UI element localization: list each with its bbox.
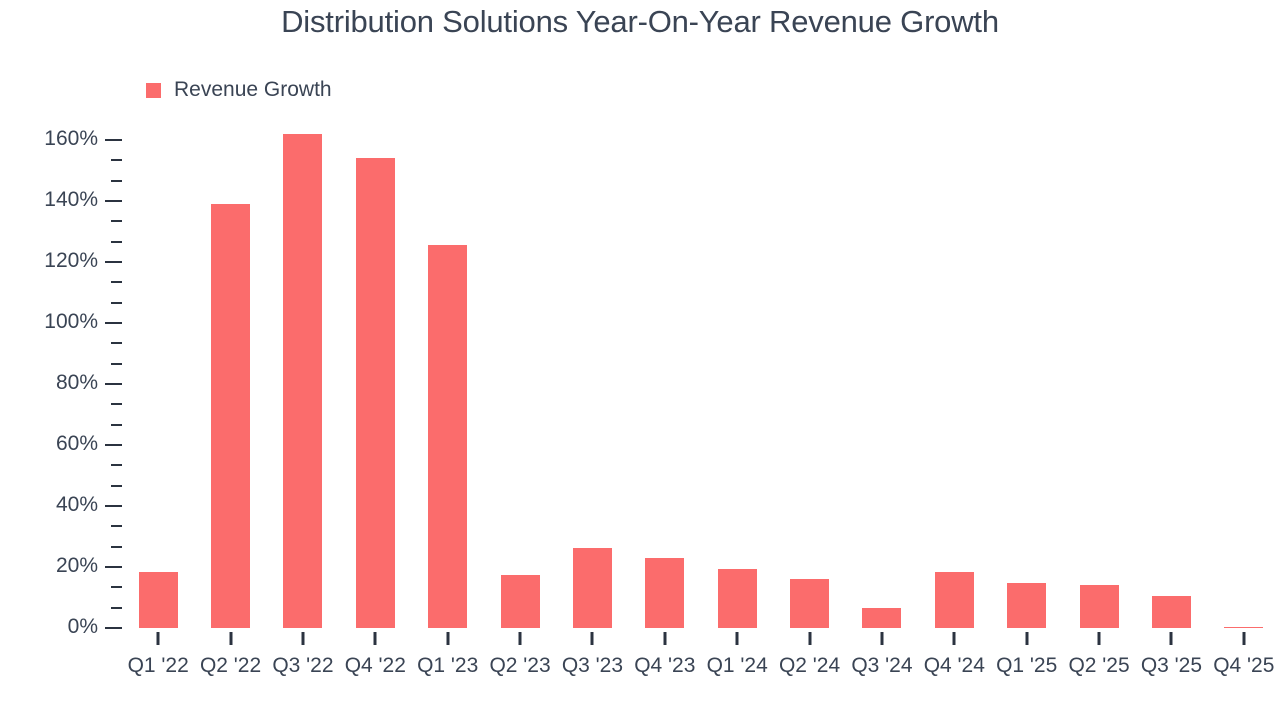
bar-category-slot: Q1 '24 — [701, 0, 773, 720]
x-axis-tick — [229, 632, 232, 645]
bar-holder — [139, 0, 178, 720]
bar[interactable] — [428, 245, 467, 628]
y-axis-minor-tick — [111, 159, 122, 161]
y-axis-major-tick — [105, 444, 122, 446]
x-axis-label: Q4 '22 — [345, 654, 406, 678]
bar[interactable] — [862, 608, 901, 628]
x-axis-tick — [953, 632, 956, 645]
x-axis-label: Q3 '25 — [1141, 654, 1202, 678]
bar-category-slot: Q1 '25 — [991, 0, 1063, 720]
y-axis-label: 160% — [44, 127, 98, 151]
bar-holder — [501, 0, 540, 720]
bar[interactable] — [1224, 627, 1263, 629]
x-axis-tick — [591, 632, 594, 645]
x-axis-label: Q2 '24 — [779, 654, 840, 678]
x-axis-tick — [663, 632, 666, 645]
y-axis-minor-tick — [111, 525, 122, 527]
bar-category-slot: Q3 '23 — [556, 0, 628, 720]
bar-category-slot: Q1 '22 — [122, 0, 194, 720]
bar-holder — [862, 0, 901, 720]
y-axis-major-tick — [105, 200, 122, 202]
bar[interactable] — [935, 572, 974, 628]
bar-category-slot: Q4 '22 — [339, 0, 411, 720]
bar[interactable] — [645, 558, 684, 628]
bar-category-slot: Q2 '24 — [773, 0, 845, 720]
bar-holder — [1224, 0, 1263, 720]
x-axis-label: Q2 '23 — [489, 654, 550, 678]
x-axis-label: Q4 '25 — [1213, 654, 1274, 678]
bar-category-slot: Q4 '24 — [918, 0, 990, 720]
x-axis-label: Q4 '24 — [924, 654, 985, 678]
bar[interactable] — [283, 134, 322, 628]
y-axis-label: 60% — [56, 432, 98, 456]
y-axis-label: 100% — [44, 310, 98, 334]
x-axis-label: Q1 '23 — [417, 654, 478, 678]
y-axis: 0%20%40%60%80%100%120%140%160% — [0, 0, 122, 720]
x-axis-tick — [157, 632, 160, 645]
bar-holder — [211, 0, 250, 720]
bar-category-slot: Q2 '22 — [194, 0, 266, 720]
bar[interactable] — [790, 579, 829, 628]
bar[interactable] — [1080, 585, 1119, 628]
x-axis-label: Q3 '24 — [851, 654, 912, 678]
bar-category-slot: Q3 '25 — [1135, 0, 1207, 720]
bar-holder — [573, 0, 612, 720]
bar-holder — [790, 0, 829, 720]
bar-series-revenue-growth: Q1 '22Q2 '22Q3 '22Q4 '22Q1 '23Q2 '23Q3 '… — [122, 0, 1280, 720]
bar[interactable] — [139, 572, 178, 628]
y-axis-minor-tick — [111, 586, 122, 588]
x-axis-label: Q3 '22 — [272, 654, 333, 678]
x-axis-tick — [736, 632, 739, 645]
bar-holder — [356, 0, 395, 720]
bar-holder — [1152, 0, 1191, 720]
x-axis-tick — [1025, 632, 1028, 645]
bar-holder — [645, 0, 684, 720]
bar-holder — [718, 0, 757, 720]
x-axis-tick — [880, 632, 883, 645]
y-axis-major-tick — [105, 627, 122, 629]
bar-category-slot: Q2 '25 — [1063, 0, 1135, 720]
y-axis-minor-tick — [111, 363, 122, 365]
bar-category-slot: Q4 '23 — [629, 0, 701, 720]
bar-chart-plot-area: 0%20%40%60%80%100%120%140%160% Q1 '22Q2 … — [0, 0, 1280, 720]
y-axis-major-tick — [105, 139, 122, 141]
y-axis-minor-tick — [111, 220, 122, 222]
bar[interactable] — [501, 575, 540, 628]
bar-holder — [1080, 0, 1119, 720]
x-axis-label: Q2 '25 — [1068, 654, 1129, 678]
x-axis-label: Q4 '23 — [634, 654, 695, 678]
x-axis-tick — [808, 632, 811, 645]
y-axis-label: 140% — [44, 188, 98, 212]
x-axis-label: Q2 '22 — [200, 654, 261, 678]
bar-holder — [428, 0, 467, 720]
bar-category-slot: Q3 '24 — [846, 0, 918, 720]
y-axis-label: 80% — [56, 371, 98, 395]
bar[interactable] — [1007, 583, 1046, 628]
bar[interactable] — [1152, 596, 1191, 628]
y-axis-label: 40% — [56, 493, 98, 517]
y-axis-minor-tick — [111, 424, 122, 426]
y-axis-minor-tick — [111, 241, 122, 243]
bar-holder — [283, 0, 322, 720]
y-axis-minor-tick — [111, 281, 122, 283]
y-axis-minor-tick — [111, 607, 122, 609]
x-axis-tick — [301, 632, 304, 645]
bar-category-slot: Q2 '23 — [484, 0, 556, 720]
bar-category-slot: Q1 '23 — [412, 0, 484, 720]
x-axis-label: Q3 '23 — [562, 654, 623, 678]
x-axis-tick — [446, 632, 449, 645]
bar-category-slot: Q3 '22 — [267, 0, 339, 720]
x-axis-tick — [519, 632, 522, 645]
x-axis-tick — [1170, 632, 1173, 645]
y-axis-label: 0% — [68, 615, 98, 639]
y-axis-major-tick — [105, 322, 122, 324]
x-axis-tick — [374, 632, 377, 645]
x-axis-tick — [1098, 632, 1101, 645]
bar[interactable] — [718, 569, 757, 628]
bar-holder — [1007, 0, 1046, 720]
y-axis-minor-tick — [111, 302, 122, 304]
y-axis-minor-tick — [111, 546, 122, 548]
x-axis-label: Q1 '24 — [707, 654, 768, 678]
y-axis-major-tick — [105, 383, 122, 385]
bar[interactable] — [573, 548, 612, 628]
y-axis-label: 120% — [44, 249, 98, 273]
y-axis-minor-tick — [111, 342, 122, 344]
bar-category-slot: Q4 '25 — [1208, 0, 1280, 720]
y-axis-major-tick — [105, 261, 122, 263]
y-axis-minor-tick — [111, 403, 122, 405]
y-axis-label: 20% — [56, 554, 98, 578]
x-axis-label: Q1 '22 — [128, 654, 189, 678]
bar-holder — [935, 0, 974, 720]
y-axis-minor-tick — [111, 464, 122, 466]
x-axis-label: Q1 '25 — [996, 654, 1057, 678]
y-axis-major-tick — [105, 566, 122, 568]
bar[interactable] — [356, 158, 395, 628]
x-axis-tick — [1242, 632, 1245, 645]
bar[interactable] — [211, 204, 250, 628]
y-axis-minor-tick — [111, 485, 122, 487]
y-axis-major-tick — [105, 505, 122, 507]
y-axis-minor-tick — [111, 180, 122, 182]
